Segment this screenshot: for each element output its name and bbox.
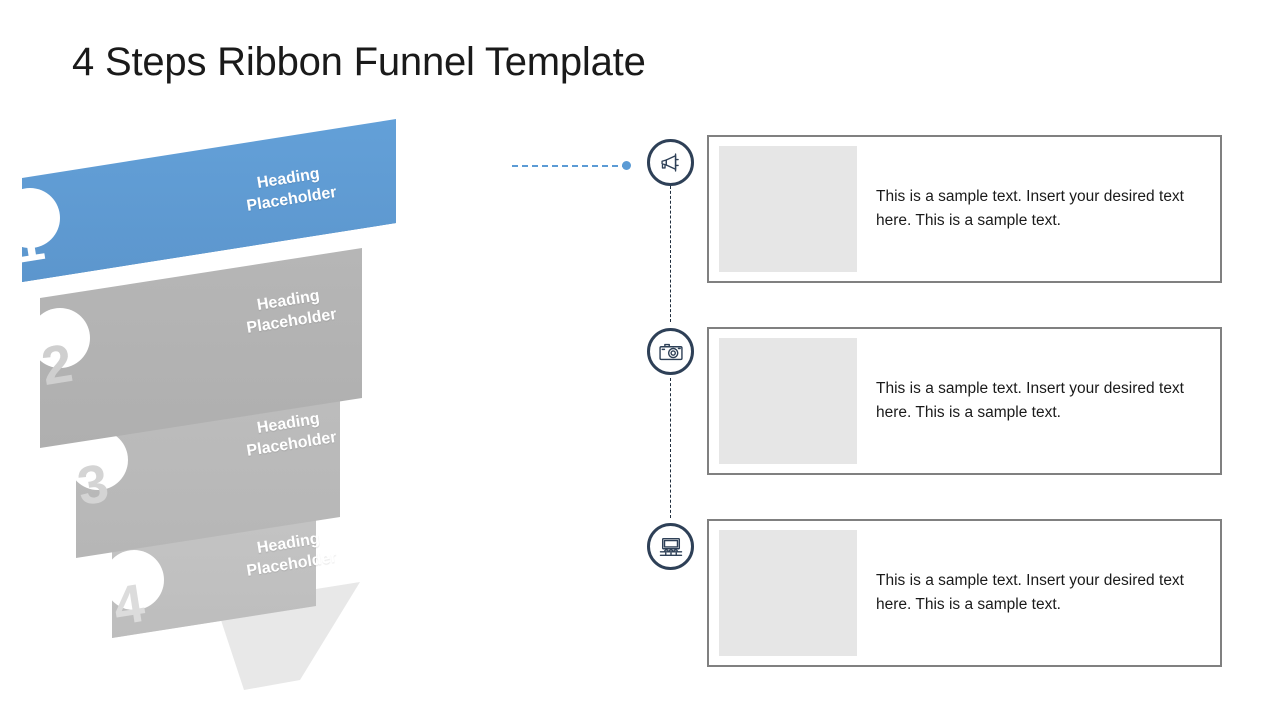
funnel-diagram: 1 2 3 4 Heading Placeholder Heading Plac… <box>0 90 560 690</box>
connector-dashed-line <box>512 165 628 169</box>
content-card-1[interactable]: This is a sample text. Insert your desir… <box>707 135 1222 283</box>
connector-spine-2 <box>670 378 671 518</box>
card-body-text: This is a sample text. Insert your desir… <box>876 185 1184 233</box>
camera-icon[interactable] <box>647 328 694 375</box>
content-card-3[interactable]: This is a sample text. Insert your desir… <box>707 519 1222 667</box>
megaphone-icon[interactable] <box>647 139 694 186</box>
image-placeholder[interactable] <box>719 338 857 464</box>
megaphone-glyph <box>657 149 684 176</box>
camera-glyph <box>657 338 685 366</box>
card-body-text: This is a sample text. Insert your desir… <box>876 377 1184 425</box>
content-card-2[interactable]: This is a sample text. Insert your desir… <box>707 327 1222 475</box>
page-title: 4 Steps Ribbon Funnel Template <box>72 40 646 85</box>
connector-dot <box>622 161 631 170</box>
presentation-icon[interactable] <box>647 523 694 570</box>
image-placeholder[interactable] <box>719 146 857 272</box>
funnel-svg <box>0 90 560 690</box>
presentation-glyph <box>657 533 685 561</box>
connector-spine-1 <box>670 186 671 322</box>
card-body-text: This is a sample text. Insert your desir… <box>876 569 1184 617</box>
image-placeholder[interactable] <box>719 530 857 656</box>
